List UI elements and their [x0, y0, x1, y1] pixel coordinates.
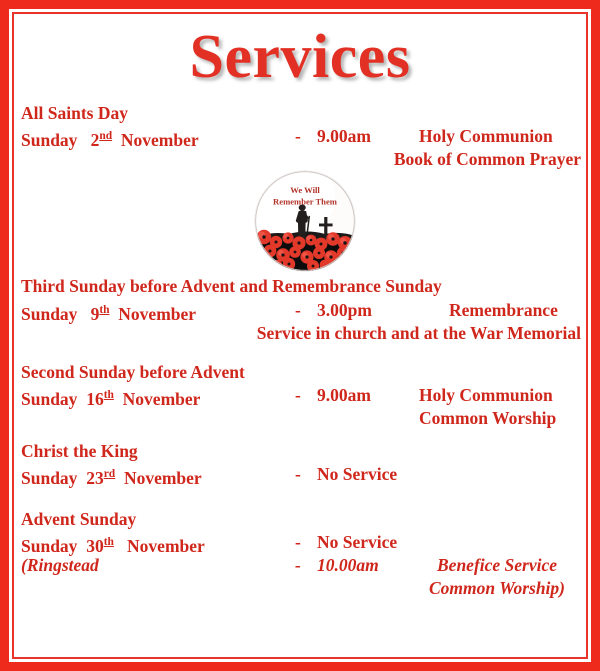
service-row-secondary: Common Worship — [9, 407, 591, 430]
service-date-ordinal: th — [104, 389, 114, 401]
service-date-number: 16 — [86, 389, 104, 409]
ringstead-dash: - — [295, 554, 301, 577]
service-time: 3.00pm — [317, 299, 372, 322]
service-row-ringstead-secondary: Common Worship) — [9, 577, 591, 600]
service-month: November — [123, 389, 201, 409]
service-description-secondary: Common Worship — [419, 407, 556, 430]
service-row: Sunday 2nd November - 9.00am Holy Commun… — [9, 125, 591, 148]
service-block-christ-the-king: Christ the King Sunday 23rd November - N… — [9, 440, 591, 486]
service-date-ordinal: th — [104, 536, 114, 548]
service-date: Sunday 23rd November — [21, 463, 202, 490]
service-date-number: 23 — [86, 468, 104, 488]
service-description-secondary: Book of Common Prayer — [394, 148, 581, 171]
service-time: No Service — [317, 531, 397, 554]
service-block-remembrance-sunday: Third Sunday before Advent and Remembran… — [9, 275, 591, 344]
spacer — [9, 345, 591, 361]
service-day: Sunday — [21, 303, 77, 323]
badge-line-1: We Will — [290, 185, 320, 195]
service-row: Sunday 30th November - No Service — [9, 531, 591, 554]
service-month: November — [118, 303, 196, 323]
ringstead-label: (Ringstead — [21, 554, 99, 577]
service-description: Holy Communion — [419, 384, 553, 407]
service-description-secondary: Service in church and at the War Memoria… — [257, 322, 581, 345]
service-day: Sunday — [21, 468, 77, 488]
badge-line-2: Remember Them — [273, 197, 338, 207]
service-date-ordinal: nd — [99, 130, 112, 142]
service-day: Sunday — [21, 536, 77, 556]
services-poster: Services All Saints Day Sunday 2nd Novem… — [0, 0, 600, 671]
service-dash: - — [295, 125, 301, 148]
service-time: No Service — [317, 463, 397, 486]
ringstead-time: 10.00am — [317, 554, 379, 577]
service-description: Remembrance — [449, 299, 558, 322]
service-heading: Christ the King — [9, 440, 591, 463]
service-row-secondary: Service in church and at the War Memoria… — [9, 322, 591, 345]
service-heading: Second Sunday before Advent — [9, 361, 591, 384]
service-block-second-sunday-before-advent: Second Sunday before Advent Sunday 16th … — [9, 361, 591, 430]
service-description: Holy Communion — [419, 125, 553, 148]
services-list: All Saints Day Sunday 2nd November - 9.0… — [9, 102, 591, 600]
service-heading: Advent Sunday — [9, 508, 591, 531]
service-day: Sunday — [21, 130, 77, 150]
service-row-secondary: Book of Common Prayer — [9, 148, 591, 171]
service-row: Sunday 16th November - 9.00am Holy Commu… — [9, 384, 591, 407]
service-row: Sunday 23rd November - No Service — [9, 463, 591, 486]
service-date-number: 9 — [91, 303, 100, 323]
service-heading: Third Sunday before Advent and Remembran… — [9, 275, 591, 298]
ringstead-description-secondary: Common Worship) — [429, 577, 565, 600]
service-row-ringstead: (Ringstead - 10.00am Benefice Service — [9, 554, 591, 577]
service-day: Sunday — [21, 389, 77, 409]
service-dash: - — [295, 299, 301, 322]
service-month: November — [124, 468, 202, 488]
service-dash: - — [295, 531, 301, 554]
service-row: Sunday 9th November - 3.00pm Remembrance — [9, 299, 591, 322]
service-dash: - — [295, 463, 301, 486]
service-block-advent-sunday: Advent Sunday Sunday 30th November - No … — [9, 508, 591, 600]
service-month: November — [121, 130, 199, 150]
remembrance-poppy-badge-icon: We Will Remember Them — [255, 171, 355, 271]
page-title: Services — [9, 9, 591, 88]
service-time: 9.00am — [317, 384, 371, 407]
spacer — [9, 430, 591, 440]
ringstead-description: Benefice Service — [437, 554, 557, 577]
service-dash: - — [295, 384, 301, 407]
badge-container: We Will Remember Them — [9, 171, 591, 275]
service-time: 9.00am — [317, 125, 371, 148]
service-block-all-saints-day: All Saints Day Sunday 2nd November - 9.0… — [9, 102, 591, 171]
service-date-ordinal: rd — [104, 468, 116, 480]
service-date-ordinal: th — [99, 304, 109, 316]
poster-content: Services All Saints Day Sunday 2nd Novem… — [9, 9, 591, 662]
service-heading: All Saints Day — [9, 102, 591, 125]
service-date-number: 30 — [86, 536, 104, 556]
service-month: November — [127, 536, 205, 556]
service-date-number: 2 — [91, 130, 100, 150]
